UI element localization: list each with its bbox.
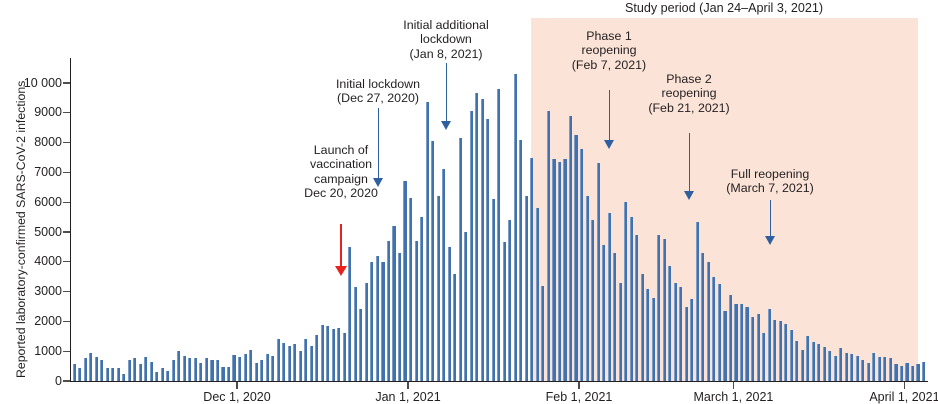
bar (282, 343, 285, 381)
x-tick-1 (407, 382, 408, 389)
bar (398, 253, 401, 381)
bar (828, 351, 831, 381)
bar (321, 325, 324, 381)
bar (437, 196, 440, 381)
x-tick-3 (733, 382, 734, 389)
annotation-phase-1-reopening: Phase 1 reopening (Feb 7, 2021) (549, 29, 669, 72)
y-tick-1000 (63, 351, 70, 352)
bar (299, 351, 302, 381)
y-tick-label-9000: 9000 (2, 106, 62, 119)
bar (464, 232, 467, 381)
bar (701, 253, 704, 381)
bar (514, 74, 517, 381)
annotation-phase-2-reopening-arrow-head (684, 191, 694, 200)
bar (619, 283, 622, 381)
bar (370, 262, 373, 381)
y-tick-label-1000: 1000 (2, 345, 62, 358)
annotation-full-reopening-arrow-shaft (770, 200, 772, 238)
bar (359, 309, 362, 381)
bar (475, 93, 478, 381)
y-tick-label-6000: 6000 (2, 196, 62, 209)
annotation-initial-additional-lockdown: Initial additional lockdown (Jan 8, 2021… (371, 18, 521, 61)
bar (563, 159, 566, 381)
bar (117, 368, 120, 381)
bar (768, 309, 771, 381)
bar (541, 286, 544, 381)
annotation-initial-additional-lockdown-arrow-head (441, 121, 451, 130)
bar (216, 360, 219, 381)
annotation-phase-1-reopening-arrow-shaft (609, 90, 611, 142)
bar (762, 333, 765, 381)
bar (221, 367, 224, 381)
bar (84, 358, 87, 381)
bar (839, 348, 842, 381)
y-tick-label-5000: 5000 (2, 226, 62, 239)
bar (337, 328, 340, 381)
annotation-initial-additional-lockdown-arrow-shaft (446, 63, 448, 123)
bar (387, 241, 390, 381)
bar (304, 339, 307, 381)
bar (238, 357, 241, 381)
annotation-launch-vaccination-arrow-head (335, 266, 347, 276)
y-tick-7000 (63, 172, 70, 173)
bar (806, 336, 809, 381)
bar (911, 366, 914, 381)
bars-plot-area (71, 58, 928, 381)
y-tick-label-4000: 4000 (2, 255, 62, 268)
bar (894, 364, 897, 381)
y-tick-10000 (63, 82, 70, 83)
y-tick-label-0: 0 (2, 375, 62, 388)
bar (392, 226, 395, 381)
bar (574, 135, 577, 381)
bar (89, 353, 92, 381)
annotation-launch-vaccination-arrow-shaft (340, 224, 342, 268)
bar (150, 362, 153, 381)
bar (260, 360, 263, 381)
bar (155, 372, 158, 381)
bar (850, 354, 853, 381)
bar (679, 287, 682, 381)
bar (812, 342, 815, 381)
bar (315, 335, 318, 381)
y-tick-0 (63, 380, 70, 381)
bar (249, 350, 252, 381)
bar (624, 202, 627, 381)
y-tick-3000 (63, 291, 70, 292)
bar (354, 287, 357, 381)
bar (161, 368, 164, 381)
bar (795, 341, 798, 381)
bar (172, 360, 175, 381)
bar (878, 357, 881, 381)
bar (757, 314, 760, 381)
bar (657, 235, 660, 381)
annotation-launch-vaccination: Launch of vaccination campaign Dec 20, 2… (281, 143, 401, 201)
bar (139, 364, 142, 381)
bar (552, 159, 555, 381)
bar (73, 364, 76, 381)
y-tick-5000 (63, 231, 70, 232)
bar (310, 346, 313, 381)
annotation-full-reopening: Full reopening (March 7, 2021) (700, 167, 840, 196)
bar (718, 284, 721, 381)
y-tick-label-7000: 7000 (2, 166, 62, 179)
bar (668, 266, 671, 381)
bar (503, 242, 506, 381)
bar (867, 363, 870, 381)
bar (420, 217, 423, 381)
bar (188, 358, 191, 381)
bar (409, 198, 412, 381)
bar (916, 364, 919, 381)
bar (166, 371, 169, 381)
bar (95, 357, 98, 381)
bar (558, 162, 561, 381)
bar (569, 116, 572, 381)
study-period-label: Study period (Jan 24–April 3, 2021) (625, 1, 823, 15)
annotation-phase-1-reopening-arrow-head (604, 140, 614, 149)
bar (580, 149, 583, 381)
bar (525, 196, 528, 381)
bar (784, 324, 787, 381)
bar (745, 307, 748, 382)
bar (177, 351, 180, 381)
bar (481, 99, 484, 381)
bar (277, 339, 280, 381)
bar (536, 208, 539, 381)
bar (834, 356, 837, 381)
bar (288, 346, 291, 381)
bar (685, 307, 688, 382)
bar (889, 358, 892, 381)
bar (734, 304, 737, 381)
y-tick-8000 (63, 142, 70, 143)
bar (205, 358, 208, 381)
bar (426, 102, 429, 381)
y-tick-label-8000: 8000 (2, 136, 62, 149)
bar (332, 329, 335, 381)
bar (597, 163, 600, 381)
bar (586, 196, 589, 381)
x-tick-label-3: March 1, 2021 (693, 391, 773, 404)
bar (78, 368, 81, 381)
bar (210, 360, 213, 381)
bar (861, 360, 864, 381)
bar (100, 360, 103, 381)
bar (602, 245, 605, 381)
bar (244, 354, 247, 381)
bar (922, 362, 925, 381)
bar (817, 344, 820, 381)
bar (856, 356, 859, 381)
bar (326, 326, 329, 381)
bar (448, 247, 451, 381)
bar (690, 299, 693, 381)
bar (232, 355, 235, 381)
bar (144, 357, 147, 381)
bar (845, 353, 848, 381)
x-tick-label-4: April 1, 2021 (869, 391, 938, 404)
bar (900, 366, 903, 381)
covid-infections-bar-chart: Study period (Jan 24–April 3, 2021) Repo… (0, 0, 938, 403)
bar (492, 199, 495, 381)
bar (255, 363, 258, 381)
bar (403, 181, 406, 381)
annotation-full-reopening-arrow-head (765, 236, 775, 245)
bar (497, 89, 500, 381)
bar (547, 111, 550, 381)
bar (128, 360, 131, 381)
annotation-phase-2-reopening: Phase 2 reopening (Feb 21, 2021) (624, 72, 754, 115)
bar (663, 239, 666, 381)
bar (729, 295, 732, 381)
y-tick-2000 (63, 321, 70, 322)
x-tick-label-1: Jan 1, 2021 (375, 391, 440, 404)
bar (905, 363, 908, 381)
bar (122, 374, 125, 381)
bar (674, 283, 677, 381)
bar (872, 353, 875, 381)
bar (508, 220, 511, 381)
annotation-phase-2-reopening-arrow-shaft (689, 133, 691, 193)
bar (712, 277, 715, 381)
x-tick-0 (236, 382, 237, 389)
bar (613, 253, 616, 381)
bar (343, 333, 346, 381)
bar (630, 217, 633, 381)
bar (415, 241, 418, 381)
bar (773, 320, 776, 381)
bar (740, 304, 743, 381)
annotation-initial-lockdown-arrow-shaft (378, 108, 380, 180)
bar (459, 138, 462, 381)
bar (199, 363, 202, 381)
x-tick-2 (578, 382, 579, 389)
annotation-initial-lockdown-arrow-head (373, 178, 383, 187)
bar (641, 274, 644, 381)
bar (883, 357, 886, 381)
bar (453, 274, 456, 381)
y-tick-9000 (63, 112, 70, 113)
bar (707, 262, 710, 381)
bar (266, 354, 269, 381)
bar (348, 247, 351, 381)
bar (133, 358, 136, 381)
x-tick-4 (904, 382, 905, 389)
bar (801, 350, 804, 381)
bar (646, 289, 649, 381)
y-tick-6000 (63, 202, 70, 203)
bar (519, 140, 522, 381)
x-tick-label-2: Feb 1, 2021 (546, 391, 613, 404)
x-axis-line (70, 381, 928, 382)
y-tick-4000 (63, 261, 70, 262)
bar (591, 220, 594, 381)
bar (293, 344, 296, 381)
bar (442, 169, 445, 381)
bar (823, 347, 826, 381)
bar (194, 358, 197, 381)
y-tick-label-2000: 2000 (2, 315, 62, 328)
bar (381, 262, 384, 381)
bar (271, 356, 274, 381)
bar (227, 367, 230, 381)
bar (530, 158, 533, 382)
bar (751, 317, 754, 381)
bar (470, 111, 473, 381)
bar (779, 321, 782, 381)
bar (723, 311, 726, 381)
bar (486, 119, 489, 381)
annotation-initial-lockdown: Initial lockdown (Dec 27, 2020) (308, 77, 448, 106)
bar (111, 368, 114, 381)
y-tick-label-10000: 10 000 (2, 77, 62, 90)
bar (696, 222, 699, 381)
y-tick-label-3000: 3000 (2, 285, 62, 298)
bar (652, 298, 655, 381)
bar (183, 356, 186, 381)
bar (376, 256, 379, 381)
bar (790, 330, 793, 381)
bar (431, 141, 434, 381)
bar (365, 283, 368, 381)
bar (635, 235, 638, 381)
bar (106, 368, 109, 381)
bar (608, 213, 611, 381)
x-tick-label-0: Dec 1, 2020 (203, 391, 270, 404)
